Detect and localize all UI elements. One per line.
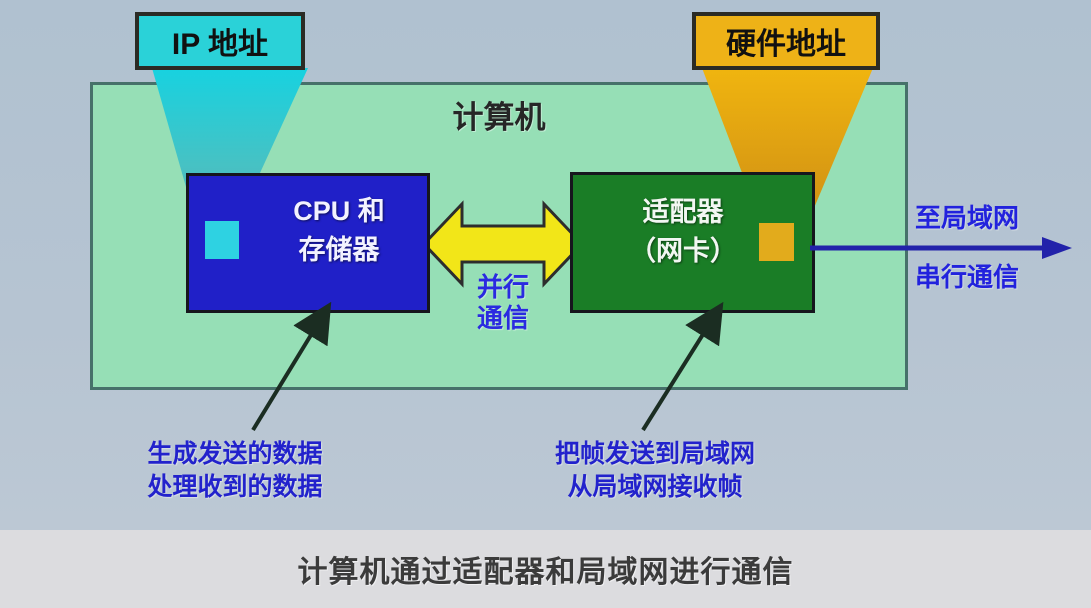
caption-bar: 计算机通过适配器和局域网进行通信 — [0, 530, 1091, 608]
cpu-memory-box[interactable]: CPU 和 存储器 — [186, 173, 430, 313]
diagram-canvas: 计算机 IP 地址 硬件地址 CPU 和 — [0, 0, 1091, 608]
parallel-line-2: 通信 — [424, 303, 582, 334]
cpu-line-2: 存储器 — [249, 231, 429, 270]
adapter-note: 把帧发送到局域网 从局域网接收帧 — [510, 438, 800, 503]
adapter-note-line-1: 把帧发送到局域网 — [510, 438, 800, 471]
adapter-line-2: （网卡） — [593, 232, 773, 271]
hardware-address-chip[interactable]: 硬件地址 — [692, 12, 880, 70]
caption-text: 计算机通过适配器和局域网进行通信 — [298, 547, 794, 591]
ip-address-marker — [205, 221, 239, 259]
cpu-note: 生成发送的数据 处理收到的数据 — [110, 438, 360, 503]
cpu-note-line-2: 处理收到的数据 — [110, 471, 360, 504]
ip-address-chip-label: IP 地址 — [172, 19, 268, 63]
adapter-label: 适配器 （网卡） — [593, 193, 773, 271]
cpu-line-1: CPU 和 — [249, 192, 429, 231]
parallel-line-1: 并行 — [424, 272, 582, 303]
left-note-leader-arrow — [245, 300, 355, 435]
ip-address-chip[interactable]: IP 地址 — [135, 12, 305, 70]
cpu-note-line-1: 生成发送的数据 — [110, 438, 360, 471]
serial-communication-label: 串行通信 — [915, 257, 1019, 294]
hardware-address-marker — [759, 223, 794, 261]
adapter-line-1: 适配器 — [593, 193, 773, 232]
hardware-address-chip-label: 硬件地址 — [726, 19, 846, 63]
right-note-leader-arrow — [635, 300, 755, 435]
adapter-box[interactable]: 适配器 （网卡） — [570, 172, 815, 313]
adapter-note-line-2: 从局域网接收帧 — [510, 471, 800, 504]
serial-to-lan-label: 至局域网 — [915, 198, 1019, 235]
parallel-communication-label: 并行 通信 — [424, 272, 582, 333]
cpu-memory-label: CPU 和 存储器 — [249, 192, 429, 270]
